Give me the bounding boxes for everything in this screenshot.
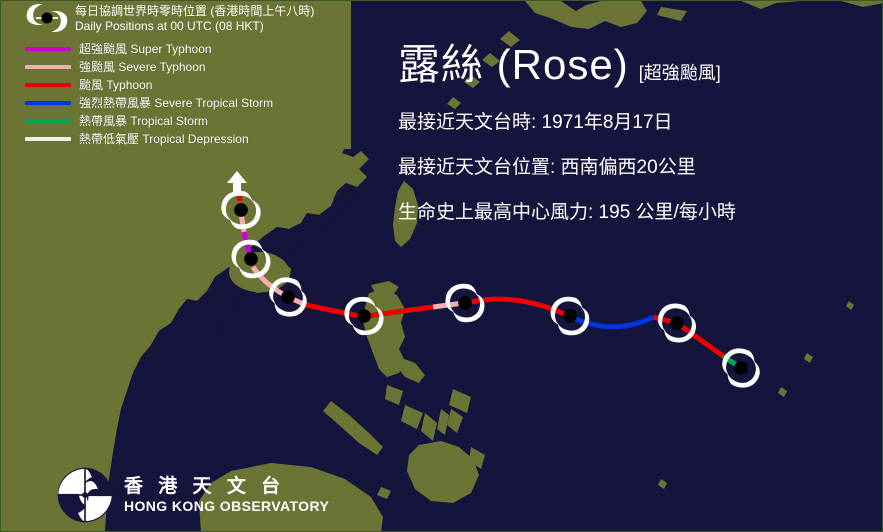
legend-label-super-typhoon: 超強颱風 Super Typhoon: [79, 43, 212, 56]
storm-classification-badge: [超強颱風]: [639, 59, 721, 85]
legend-item-typhoon: 颱風 Typhoon: [25, 77, 152, 93]
legend-daily-zh: 每日協調世界時零時位置 (香港時間上午八時): [75, 4, 314, 19]
hko-name-chinese: 香 港 天 文 台: [124, 476, 329, 498]
legend-label-typhoon: 颱風 Typhoon: [79, 79, 152, 92]
legend-daily-en: Daily Positions at 00 UTC (08 HKT): [75, 19, 314, 34]
legend-label-severe-tropical-storm: 強烈熱帶風暴 Severe Tropical Storm: [79, 97, 273, 110]
legend-swatch-super-typhoon: [25, 47, 71, 51]
legend-swatch-severe-tropical-storm: [25, 101, 71, 105]
storm-title-line: 露絲 (Rose) [超強颱風]: [398, 41, 736, 89]
legend-item-tropical-depression: 熱帶低氣壓 Tropical Depression: [25, 131, 249, 147]
typhoon-track-map: 每日協調世界時零時位置 (香港時間上午八時) Daily Positions a…: [0, 0, 883, 532]
max-wind-speed: 生命史上最高中心風力: 195 公里/每小時: [398, 202, 736, 224]
page-title: 露絲 (Rose): [398, 41, 629, 89]
legend-swatch-severe-typhoon: [25, 65, 71, 69]
legend-swatch-tropical-storm: [25, 119, 71, 123]
storm-info-block: 露絲 (Rose) [超強颱風] 最接近天文台時: 1971年8月17日 最接近…: [398, 41, 736, 224]
legend-panel: 每日協調世界時零時位置 (香港時間上午八時) Daily Positions a…: [1, 1, 351, 149]
legend-label-severe-typhoon: 強颱風 Severe Typhoon: [79, 61, 206, 74]
legend-item-super-typhoon: 超強颱風 Super Typhoon: [25, 41, 212, 57]
legend-item-tropical-storm: 熱帶風暴 Tropical Storm: [25, 113, 208, 129]
tropical-cyclone-icon: [23, 3, 71, 33]
hko-name-english: HONG KONG OBSERVATORY: [124, 498, 329, 514]
closest-approach-time: 最接近天文台時: 1971年8月17日: [398, 112, 736, 134]
legend-swatch-tropical-depression: [25, 137, 71, 141]
closest-approach-position: 最接近天文台位置: 西南偏西20公里: [398, 157, 736, 179]
hko-wordmark: 香 港 天 文 台 HONG KONG OBSERVATORY: [124, 476, 329, 514]
legend-label-tropical-depression: 熱帶低氣壓 Tropical Depression: [79, 133, 249, 146]
hko-swirl-icon: [56, 466, 114, 524]
legend-item-severe-tropical-storm: 強烈熱帶風暴 Severe Tropical Storm: [25, 95, 273, 111]
legend-swatch-typhoon: [25, 83, 71, 87]
legend-item-severe-typhoon: 強颱風 Severe Typhoon: [25, 59, 206, 75]
legend-label-tropical-storm: 熱帶風暴 Tropical Storm: [79, 115, 208, 128]
legend-daily-positions: 每日協調世界時零時位置 (香港時間上午八時) Daily Positions a…: [23, 3, 314, 34]
hko-logo: 香 港 天 文 台 HONG KONG OBSERVATORY: [56, 466, 329, 524]
